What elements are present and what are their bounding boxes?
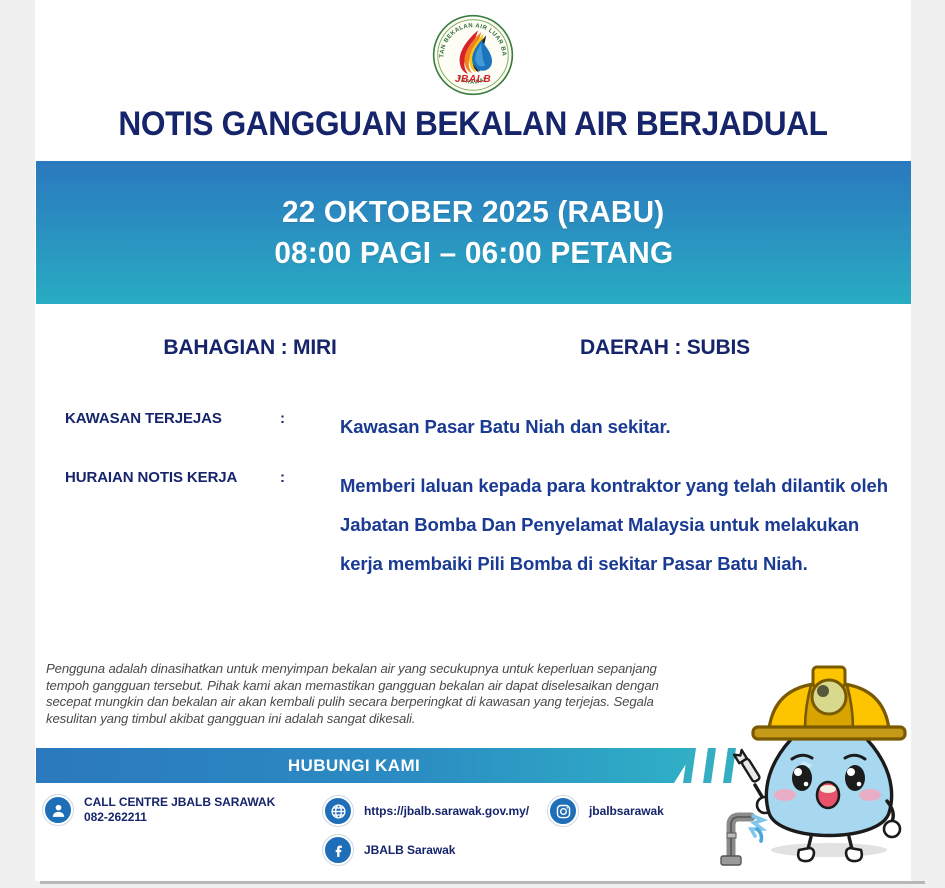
detail-row-work-description: HURAIAN NOTIS KERJA : Memberi laluan kep… — [65, 466, 897, 583]
district-label: DAERAH : SUBIS — [465, 336, 865, 360]
disclaimer-text: Pengguna adalah dinasihatkan untuk menyi… — [46, 661, 666, 727]
contact-heading-label: HUBUNGI KAMI — [288, 756, 420, 776]
jbalb-sarawak-logo: JABATAN BEKALAN AIR LUAR BANDAR SARAWAK … — [432, 14, 514, 96]
website-url: https://jbalb.sarawak.gov.my/ — [364, 804, 529, 819]
person-icon — [43, 795, 73, 825]
call-centre-number: 082-262211 — [84, 810, 275, 825]
contact-website[interactable]: https://jbalb.sarawak.gov.my/ — [323, 796, 529, 826]
work-description-label: HURAIAN NOTIS KERJA — [65, 466, 280, 486]
call-centre-label: CALL CENTRE JBALB SARAWAK — [84, 795, 275, 810]
contact-call-centre[interactable]: CALL CENTRE JBALB SARAWAK 082-262211 — [43, 795, 275, 825]
instagram-icon — [548, 796, 578, 826]
water-droplet-mascot — [707, 653, 932, 875]
work-description-value: Memberi laluan kepada para kontraktor ya… — [340, 466, 897, 583]
facebook-icon — [323, 835, 353, 865]
work-description-colon: : — [280, 466, 340, 486]
banner-date: 22 OKTOBER 2025 (RABU) — [282, 194, 664, 230]
contact-heading-bar: HUBUNGI KAMI — [36, 748, 696, 783]
contact-instagram[interactable]: jbalbsarawak — [548, 796, 664, 826]
detail-row-affected-area: KAWASAN TERJEJAS : Kawasan Pasar Batu Ni… — [65, 407, 897, 446]
page-bottom-rule — [40, 881, 925, 884]
svg-text:JBALB: JBALB — [455, 74, 491, 85]
date-time-banner: 22 OKTOBER 2025 (RABU) 08:00 PAGI – 06:0… — [36, 161, 911, 304]
contact-facebook[interactable]: JBALB Sarawak — [323, 835, 455, 865]
call-centre-text: CALL CENTRE JBALB SARAWAK 082-262211 — [84, 795, 275, 825]
region-row: BAHAGIAN : MIRI DAERAH : SUBIS — [35, 336, 911, 360]
poster-page: JABATAN BEKALAN AIR LUAR BANDAR SARAWAK … — [0, 0, 945, 888]
notice-card: JABATAN BEKALAN AIR LUAR BANDAR SARAWAK … — [35, 0, 911, 881]
banner-time: 08:00 PAGI – 06:00 PETANG — [274, 235, 673, 271]
instagram-handle: jbalbsarawak — [589, 804, 664, 819]
affected-area-value: Kawasan Pasar Batu Niah dan sekitar. — [340, 407, 897, 446]
globe-icon — [323, 796, 353, 826]
division-label: BAHAGIAN : MIRI — [35, 336, 465, 360]
affected-area-label: KAWASAN TERJEJAS — [65, 407, 280, 427]
affected-area-colon: : — [280, 407, 340, 427]
facebook-handle: JBALB Sarawak — [364, 843, 455, 858]
page-title: NOTIS GANGGUAN BEKALAN AIR BERJADUAL — [66, 105, 881, 144]
